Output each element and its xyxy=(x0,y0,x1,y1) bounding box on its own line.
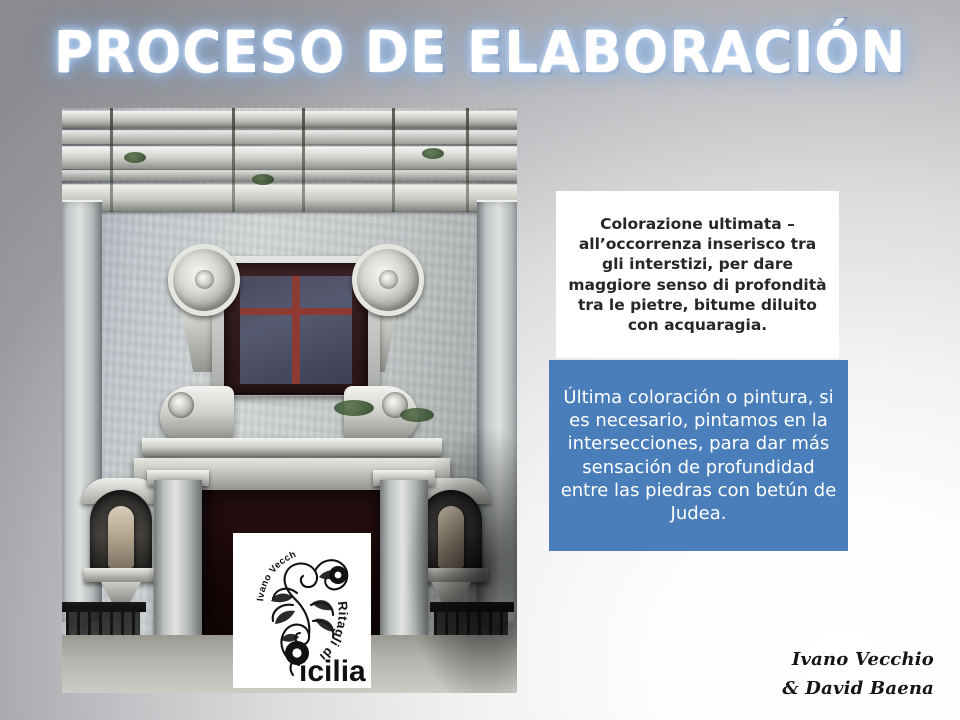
photo-statue-left xyxy=(108,506,134,568)
photo-vegetation xyxy=(124,152,146,163)
photo-corbel-scroll-left xyxy=(168,392,194,418)
photo-volute-right xyxy=(352,244,424,316)
page-title: PROCESO DE ELABORACIÓN xyxy=(38,22,921,83)
caption-spanish-text: Última coloración o pintura, si es neces… xyxy=(557,386,840,525)
logo-bottom-text: icilia xyxy=(299,655,366,688)
photo-vegetation xyxy=(422,148,444,159)
caption-italian-text: Colorazione ultimata – all’occorrenza in… xyxy=(566,214,829,335)
photo-vegetation xyxy=(252,174,274,185)
photo-window-mullion-vertical xyxy=(292,276,300,384)
signature-line-1: Ivano Vecchio xyxy=(782,645,934,675)
photo-vegetation xyxy=(334,400,374,416)
caption-spanish: Última coloración o pintura, si es neces… xyxy=(549,360,848,551)
photo-niche-shelf-left xyxy=(84,568,158,582)
photo-cornice-joint xyxy=(302,108,305,212)
author-signature: Ivano Vecchio & David Baena xyxy=(782,645,934,704)
photo-balcony-slab xyxy=(142,438,442,456)
signature-line-2: & David Baena xyxy=(782,674,934,704)
presentation-slide: PROCESO DE ELABORACIÓN xyxy=(0,0,960,720)
ritagli-di-sicilia-logo: Ivano Vecchio Ritagli di icilia xyxy=(233,533,371,688)
caption-italian: Colorazione ultimata – all’occorrenza in… xyxy=(556,191,839,358)
photo-cornice-joint xyxy=(232,108,235,212)
photo-shadow xyxy=(407,428,517,693)
acanthus-scroll-icon: Ivano Vecchio Ritagli di icilia xyxy=(233,533,371,688)
photo-volute-left xyxy=(168,244,240,316)
photo-cornice-joint xyxy=(110,108,113,212)
photo-vegetation xyxy=(400,408,434,422)
photo-cornice-band-5 xyxy=(62,184,517,211)
photo-cornice-joint xyxy=(392,108,395,212)
photo-cornice-band-1 xyxy=(62,110,517,128)
photo-cornice-band-4 xyxy=(62,170,517,181)
photo-cornice-joint xyxy=(466,108,469,212)
photo-window-mullion-horizontal xyxy=(240,308,352,315)
photo-cornice-band-2 xyxy=(62,130,517,144)
